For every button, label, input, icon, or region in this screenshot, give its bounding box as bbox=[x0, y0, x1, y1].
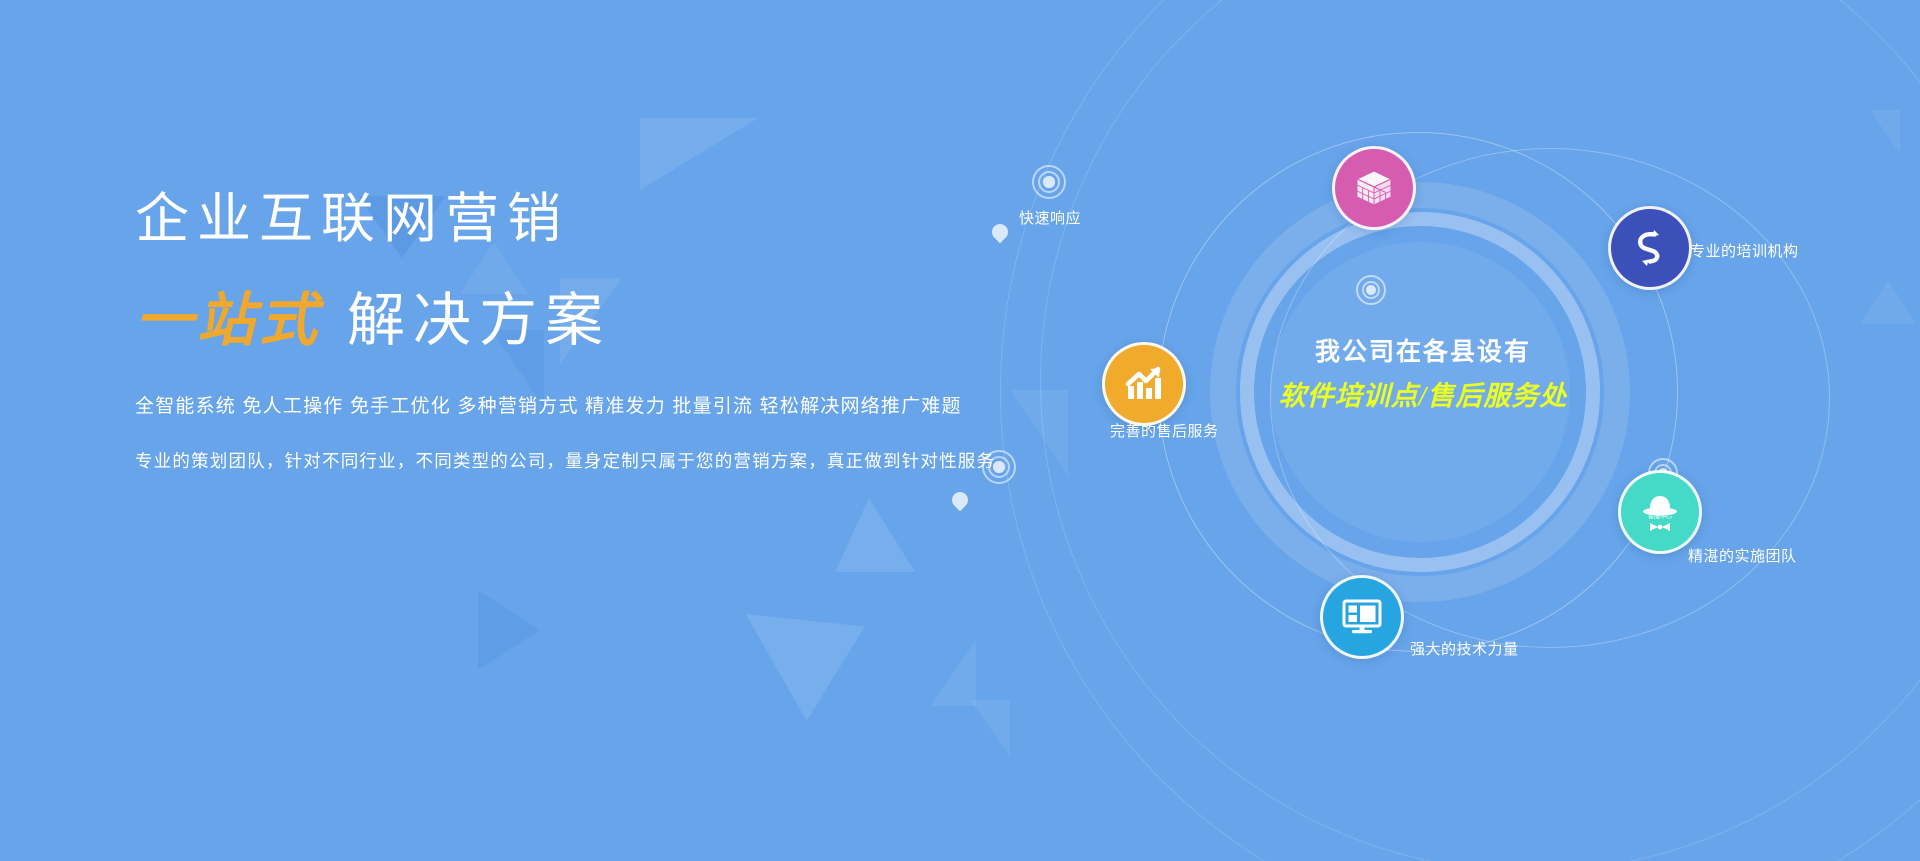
diagram-node-label-skilled-implementation: 精湛的实施团队 bbox=[1688, 545, 1797, 566]
pencil-arrow-icon bbox=[1628, 226, 1672, 270]
hero-banner: 企业互联网营销 一站式解决方案 全智能系统 免人工操作 免手工优化 多种营销方式… bbox=[0, 0, 1920, 861]
diagram-node-label-after-sales-service: 完善的售后服务 bbox=[1110, 420, 1219, 441]
center-message: 我公司在各县设有 软件培训点/售后服务处 bbox=[1268, 332, 1578, 413]
service-center-caption: 客服中心 bbox=[1648, 513, 1672, 521]
headline-secondary: 一站式解决方案 bbox=[135, 289, 1035, 353]
diagram-node-label-fast-response: 快速响应 bbox=[1019, 207, 1081, 228]
center-message-line-2: 软件培训点/售后服务处 bbox=[1268, 374, 1578, 413]
headline-accent-text: 一站式 bbox=[135, 288, 347, 353]
diagram-node-professional-training[interactable] bbox=[1608, 206, 1692, 290]
center-message-line-1: 我公司在各县设有 bbox=[1268, 332, 1578, 368]
diagram-node-skilled-implementation[interactable]: 客服中心 bbox=[1618, 470, 1702, 554]
service-hat-icon: 客服中心 bbox=[1637, 490, 1683, 534]
decorative-triangle bbox=[478, 590, 540, 670]
decorative-triangle bbox=[930, 640, 976, 706]
decorative-triangle bbox=[735, 614, 865, 726]
growth-chart-icon bbox=[1122, 364, 1166, 404]
target-icon bbox=[1032, 165, 1066, 199]
target-icon bbox=[982, 450, 1016, 484]
decorative-triangle bbox=[835, 498, 915, 572]
subtitle-line-2: 专业的策划团队，针对不同行业，不同类型的公司，量身定制只属于您的营销方案，真正做… bbox=[135, 448, 1035, 473]
decorative-triangle bbox=[970, 700, 1010, 756]
diagram-node-strong-technology[interactable] bbox=[1320, 575, 1404, 659]
page-title: 企业互联网营销 bbox=[135, 190, 1035, 249]
subtitle-line-1: 全智能系统 免人工操作 免手工优化 多种营销方式 精准发力 批量引流 轻松解决网… bbox=[135, 391, 1035, 418]
headline-rest-text: 解决方案 bbox=[347, 288, 611, 353]
diagram-node-fast-response[interactable] bbox=[1332, 146, 1416, 230]
diagram-node-after-sales-service[interactable] bbox=[1102, 342, 1186, 426]
monitor-icon bbox=[1339, 596, 1385, 638]
service-circle-diagram: 我公司在各县设有 软件培训点/售后服务处 bbox=[1120, 120, 1860, 740]
hero-copy: 企业互联网营销 一站式解决方案 全智能系统 免人工操作 免手工优化 多种营销方式… bbox=[135, 190, 1035, 473]
diagram-node-label-strong-technology: 强大的技术力量 bbox=[1410, 638, 1519, 659]
cube-icon bbox=[1353, 167, 1395, 209]
target-icon bbox=[1356, 275, 1386, 305]
decorative-triangle bbox=[640, 118, 758, 190]
diagram-node-label-professional-training: 专业的培训机构 bbox=[1690, 240, 1799, 261]
